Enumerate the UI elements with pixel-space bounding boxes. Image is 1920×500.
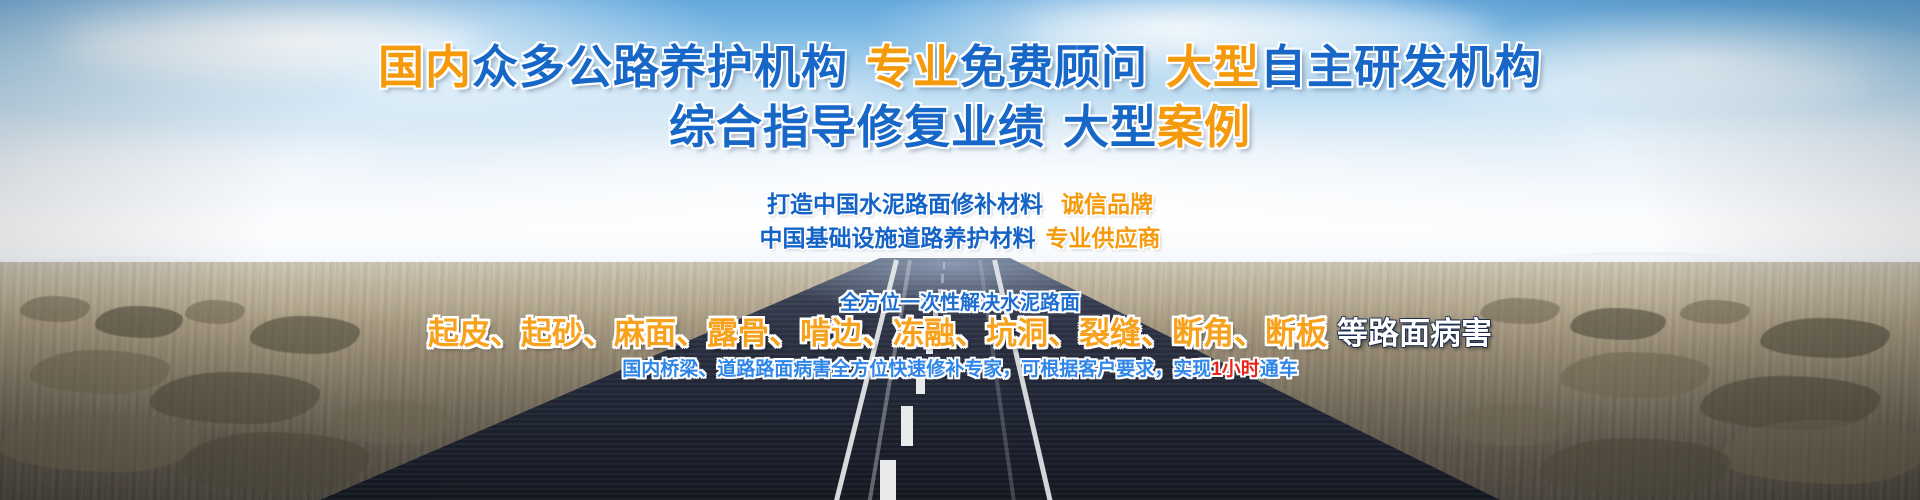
headline1-seg-2: 众多公路养护机构 (472, 41, 848, 93)
subtitle-line-2: 中国基础设施道路养护材料专业供应商 (0, 227, 1920, 250)
headline1-seg-4: 免费顾问 (960, 41, 1148, 93)
headline1-seg-3: 专业 (866, 41, 960, 93)
promotional-banner: 国内众多公路养护机构专业免费顾问大型自主研发机构 综合指导修复业绩大型案例 打造… (0, 0, 1920, 500)
bottom-line-3: 国内桥梁、道路路面病害全方位快速修补专家，可根据客户要求，实现1小时通车 (0, 360, 1920, 379)
defect-list-suffix: 等路面病害 (1337, 316, 1492, 351)
banner-content: 国内众多公路养护机构专业免费顾问大型自主研发机构 综合指导修复业绩大型案例 打造… (0, 0, 1920, 500)
headline2-seg-3: 案例 (1157, 101, 1251, 153)
bottom3-seg-3: 通车 (1260, 359, 1298, 380)
bottom3-highlight: 1小时 (1211, 359, 1260, 380)
headline-line-2: 综合指导修复业绩大型案例 (0, 104, 1920, 150)
headline1-seg-6: 自主研发机构 (1260, 41, 1542, 93)
defect-list: 起皮、起砂、麻面、露骨、啃边、冻融、坑洞、裂缝、断角、断板 (428, 316, 1327, 351)
subtitle-line-1: 打造中国水泥路面修补材料诚信品牌 (0, 193, 1920, 216)
subtitle2-seg-2: 专业供应商 (1046, 225, 1161, 251)
subtitle1-seg-2: 诚信品牌 (1061, 191, 1153, 217)
bottom-line-1: 全方位一次性解决水泥路面 (0, 293, 1920, 313)
bottom-line-2-defect-list: 起皮、起砂、麻面、露骨、啃边、冻融、坑洞、裂缝、断角、断板等路面病害 (0, 318, 1920, 349)
headline1-seg-5: 大型 (1166, 41, 1260, 93)
bottom3-seg-1: 国内桥梁、道路路面病害全方位快速修补专家，可根据客户要求，实现 (622, 359, 1211, 380)
headline2-seg-1: 综合指导修复业绩 (669, 101, 1045, 153)
subtitle1-seg-1: 打造中国水泥路面修补材料 (767, 191, 1043, 217)
headline1-seg-1: 国内 (378, 41, 472, 93)
headline-line-1: 国内众多公路养护机构专业免费顾问大型自主研发机构 (0, 44, 1920, 90)
bottom1-text: 全方位一次性解决水泥路面 (840, 292, 1080, 314)
headline2-seg-2: 大型 (1063, 101, 1157, 153)
subtitle2-seg-1: 中国基础设施道路养护材料 (760, 225, 1036, 251)
